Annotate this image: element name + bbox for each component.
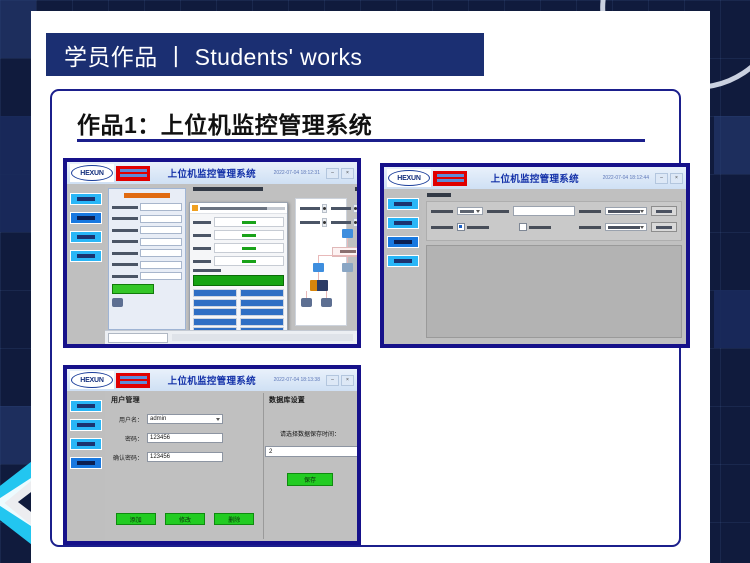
checkbox-by-customer[interactable] [519,223,551,231]
customer-name-input[interactable] [513,206,575,216]
start-time-label [579,210,601,213]
sidebar-item-user-management[interactable] [70,400,102,412]
plc2-panel [295,198,347,326]
topology-link [347,255,348,263]
query-row-1 [431,206,677,216]
dialog-value-label [193,260,211,263]
page-title-separator: 丨 [164,44,187,70]
slide-header-band: 学员作品 丨 Students' works [46,33,484,76]
logo-red-badge [433,171,467,186]
dialog-app-icon [192,205,198,211]
topology-link [306,291,307,298]
data-grid[interactable] [426,245,682,338]
window-body [67,184,357,344]
close-button[interactable]: × [341,168,354,179]
field-input[interactable] [140,215,182,223]
dialog-summary-label [193,269,221,272]
page-title: 学员作品 丨 Students' works [46,38,362,72]
logo-red-badge [116,166,150,181]
dialog-summary-row [193,269,284,272]
topology-node-actuator [321,298,332,307]
status-select[interactable] [108,333,168,343]
sidebar-item-realtime-monitor[interactable] [387,217,419,229]
list-item[interactable] [240,318,284,326]
logo-text: HEXUN [80,170,104,177]
window-title: 上位机监控管理系统 [467,171,603,185]
minimize-button[interactable]: – [655,173,668,184]
form-field-row[interactable] [112,215,182,223]
window-controls[interactable]: – × [655,173,683,184]
database-settings-section: 数据库设置 请选择数据保存时间： 2 保存 [265,393,355,539]
form-field-row[interactable] [112,238,182,246]
list-item[interactable] [240,308,284,316]
sidebar-item-user-management[interactable] [387,198,419,210]
dialog-value-row [193,243,284,253]
end-date-picker[interactable] [605,223,647,231]
field-input[interactable] [140,226,182,234]
field-input[interactable] [140,261,182,269]
logo-text: HEXUN [397,175,421,182]
user-management-section: 用户管理 用户名： admin 密码： 123456 确认密 [107,393,264,539]
dialog-value-row [193,217,284,227]
sidebar-item-system-settings[interactable] [387,255,419,267]
monitor-form-panel [108,188,186,330]
window-title: 上位机监控管理系统 [150,166,274,180]
sidebar-item-realtime-monitor[interactable] [70,212,102,224]
field-label [112,240,138,243]
valve-field[interactable] [331,218,357,227]
hexun-logo: HEXUN [70,164,114,182]
window-datetime: 2022-07-04 18:13:38 [274,377,320,383]
select-plc-dropdown[interactable] [457,207,483,215]
confirm-password-label: 确认密码： [111,453,143,462]
dialog-value-label [193,234,211,237]
dialog-value-field [214,230,284,240]
window-controls[interactable]: – × [326,375,354,386]
database-settings-heading: 数据库设置 [269,395,355,405]
section-heading-query [427,193,451,197]
form-field-row[interactable] [112,226,182,234]
save-button[interactable]: 保存 [287,473,333,486]
field-input[interactable] [140,238,182,246]
main-content [422,189,686,344]
valve-field[interactable] [300,204,327,213]
dialog-value-field [214,256,284,266]
form-field-row[interactable] [112,203,182,211]
export-button[interactable] [651,222,677,232]
field-label [112,217,138,220]
window-titlebar: HEXUN 上位机监控管理系统 2022-07-04 18:12:44 – × [384,167,686,189]
valve-row [300,204,342,213]
confirm-password-row: 确认密码： 123456 [111,452,259,462]
dialog-display-button[interactable] [193,275,284,286]
sidebar-item-realtime-monitor[interactable] [70,419,102,431]
topology-link [318,272,319,280]
list-item[interactable] [193,318,237,326]
username-label: 用户名： [111,415,143,424]
background-block [714,116,750,174]
window-datetime: 2022-07-04 18:12:44 [603,175,649,181]
query-condition-label [431,226,453,229]
main-content [105,184,357,344]
field-label [112,229,138,232]
device-status-button[interactable] [112,284,154,294]
dialog-titlebar [190,203,287,214]
dialog-title [200,207,267,210]
list-item[interactable] [193,289,237,297]
sidebar-nav [384,189,422,344]
sidebar-item-data-display[interactable] [387,236,419,248]
screenshot-thumb-2[interactable]: HEXUN 上位机监控管理系统 2022-07-04 18:12:44 – × [380,163,690,348]
list-item[interactable] [193,308,237,316]
dialog-value-field [214,217,284,227]
username-select[interactable]: admin [147,414,223,424]
end-time-label [579,226,601,229]
work-title: 作品1：上位机监控管理系统 [77,106,372,140]
field-label [112,275,138,278]
status-bar [105,330,357,344]
user-action-buttons: 添加 修改 删除 [111,513,259,525]
username-value: admin [150,416,216,422]
dialog-value-row [193,256,284,266]
valve-row [300,218,342,227]
topology-node-ipc [313,263,324,272]
query-button[interactable] [651,206,677,216]
topology-link [318,255,319,263]
valve-field[interactable] [300,218,327,227]
title-underline [77,139,645,142]
screenshot-thumb-1[interactable]: HEXUN 上位机监控管理系统 2022-07-04 18:12:31 – × [63,158,361,348]
hexun-logo: HEXUN [387,169,431,187]
customer-name-label [487,210,509,213]
user-management-heading: 用户管理 [111,395,263,405]
topology-node-actuator [301,298,312,307]
field-input[interactable] [140,249,182,257]
retention-caption: 请选择数据保存时间： [265,429,355,438]
sidebar-item-system-settings[interactable] [70,250,102,262]
checkbox-by-time[interactable] [457,223,489,231]
window-titlebar: HEXUN 上位机监控管理系统 2022-07-04 18:12:31 – × [67,162,357,184]
close-button[interactable]: × [341,375,354,386]
dialog-value-row [193,230,284,240]
form-field-row[interactable] [112,261,182,269]
modify-user-button[interactable]: 修改 [165,513,205,525]
screenshot-2-window: HEXUN 上位机监控管理系统 2022-07-04 18:12:44 – × [384,167,686,344]
checkbox-by-customer-label [529,226,551,229]
page-title-en: Students' works [195,44,363,70]
query-form [426,201,682,241]
topology-node-host [342,229,353,238]
form-field-row[interactable] [112,249,182,257]
logo-text: HEXUN [80,377,104,384]
window-titlebar: HEXUN 上位机监控管理系统 2022-07-04 18:13:38 – × [67,369,357,391]
screenshot-1-window: HEXUN 上位机监控管理系统 2022-07-04 18:12:31 – × [67,162,357,344]
field-label [112,206,138,209]
sidebar-nav [67,184,105,344]
topology-node-ipc [342,263,353,272]
list-item[interactable] [240,289,284,297]
query-row-2 [431,222,677,232]
select-plc-label [431,210,453,213]
screenshot-thumb-3[interactable]: HEXUN 上位机监控管理系统 2022-07-04 18:13:38 – × [63,365,361,545]
sidebar-nav [67,391,105,541]
username-row: 用户名： admin [111,414,259,424]
window-body: 用户管理 用户名： admin 密码： 123456 确认密 [67,391,357,541]
main-content: 用户管理 用户名： admin 密码： 123456 确认密 [105,391,357,541]
logo-red-badge [116,373,150,388]
topology-link [347,238,348,247]
dialog-value-field [214,243,284,253]
password-input[interactable]: 123456 [147,433,223,443]
topology-node-cabinet [310,280,328,291]
device-icon [112,298,123,307]
form-field-row[interactable] [112,272,182,280]
minimize-button[interactable]: – [326,375,339,386]
password-label: 密码： [111,434,143,443]
start-date-picker[interactable] [605,207,647,215]
topology-link [318,255,357,256]
window-title: 上位机监控管理系统 [150,373,274,387]
window-controls[interactable]: – × [326,168,354,179]
sidebar-item-data-display[interactable] [70,438,102,450]
monitor-form-caption [124,193,170,198]
screenshot-3-window: HEXUN 上位机监控管理系统 2022-07-04 18:13:38 – × [67,369,357,541]
field-input[interactable] [140,272,182,280]
field-label [112,252,138,255]
list-item[interactable] [240,299,284,307]
sidebar-item-data-display[interactable] [70,231,102,243]
section-heading-plc2 [355,187,357,191]
interaction-dialog[interactable] [189,202,288,344]
hexun-logo: HEXUN [70,371,114,389]
list-item[interactable] [193,299,237,307]
section-heading-plc1 [193,187,263,191]
checkbox-by-time-label [467,226,489,229]
delete-user-button[interactable]: 删除 [214,513,254,525]
retention-select[interactable]: 2 [265,446,357,457]
retention-value: 2 [269,449,357,455]
dialog-value-label [193,247,211,250]
page-title-cn: 学员作品 [64,44,158,70]
sidebar-item-user-management[interactable] [70,193,102,205]
add-user-button[interactable]: 添加 [116,513,156,525]
field-input[interactable] [140,203,182,211]
sidebar-item-system-settings[interactable] [70,457,102,469]
network-topology-diagram [296,227,346,323]
minimize-button[interactable]: – [326,168,339,179]
close-button[interactable]: × [670,173,683,184]
dialog-window-controls[interactable] [267,207,285,210]
password-row: 密码： 123456 [111,433,259,443]
valve-field[interactable] [331,204,357,213]
window-datetime: 2022-07-04 18:12:31 [274,170,320,176]
window-body [384,189,686,344]
confirm-password-input[interactable]: 123456 [147,452,223,462]
field-label [112,263,138,266]
slide-card: 学员作品 丨 Students' works 作品1：上位机监控管理系统 HEX… [31,11,710,563]
chevron-down-icon [216,418,220,421]
topology-link [326,291,327,298]
background-block [714,290,750,348]
horizontal-scrollbar[interactable] [172,334,353,341]
dialog-value-label [193,221,211,224]
